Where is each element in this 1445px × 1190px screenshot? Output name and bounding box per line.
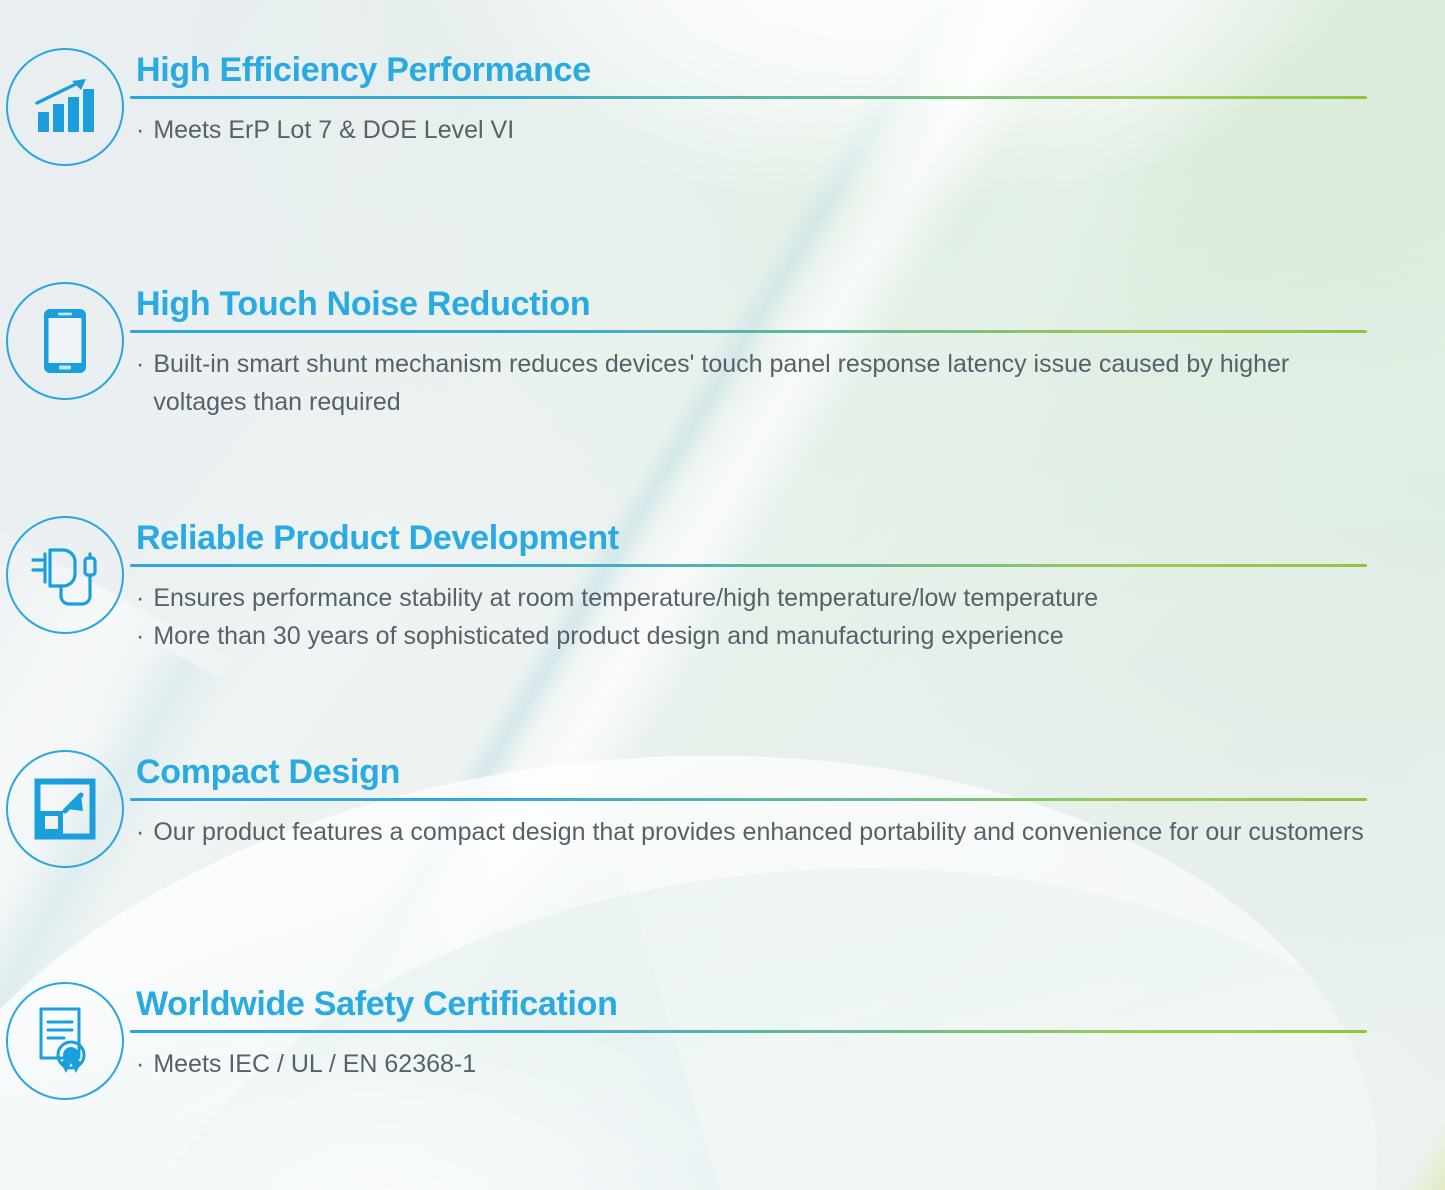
feature-divider xyxy=(130,96,1367,99)
feature-item-reliable-product-development: Reliable Product Development · Ensures p… xyxy=(0,514,1445,655)
icon-circle-frame xyxy=(6,282,124,400)
feature-item-high-efficiency-performance: High Efficiency Performance · Meets ErP … xyxy=(0,46,1445,166)
feature-title: Compact Design xyxy=(136,752,1367,792)
feature-icon-wrapper xyxy=(0,46,130,166)
icon-circle-frame xyxy=(6,48,124,166)
power-adapter-icon xyxy=(28,540,102,610)
feature-title: Reliable Product Development xyxy=(136,518,1367,558)
bullet-text: Meets IEC / UL / EN 62368-1 xyxy=(153,1045,1367,1083)
feature-divider xyxy=(130,798,1367,801)
feature-icon-wrapper xyxy=(0,280,130,400)
bullet-text: Ensures performance stability at room te… xyxy=(153,579,1367,617)
bullet-item: · Meets IEC / UL / EN 62368-1 xyxy=(136,1045,1367,1083)
bottom-right-yellow-band xyxy=(1349,631,1445,1190)
feature-bullets: · Ensures performance stability at room … xyxy=(130,579,1367,655)
feature-bullets: · Meets IEC / UL / EN 62368-1 xyxy=(130,1045,1367,1083)
bullet-text: More than 30 years of sophisticated prod… xyxy=(153,617,1367,655)
bullet-marker: · xyxy=(136,111,144,149)
feature-title: High Touch Noise Reduction xyxy=(136,284,1367,324)
feature-item-worldwide-safety-certification: Worldwide Safety Certification · Meets I… xyxy=(0,980,1445,1100)
feature-bullets: · Meets ErP Lot 7 & DOE Level VI xyxy=(130,111,1367,149)
bullet-item: · Our product features a compact design … xyxy=(136,813,1367,851)
bullet-item: · Ensures performance stability at room … xyxy=(136,579,1367,617)
bullet-marker: · xyxy=(136,1045,144,1083)
bullet-marker: · xyxy=(136,345,144,421)
feature-icon-wrapper xyxy=(0,980,130,1100)
feature-item-high-touch-noise-reduction: High Touch Noise Reduction · Built-in sm… xyxy=(0,280,1445,421)
feature-icon-wrapper xyxy=(0,748,130,868)
smartphone-icon xyxy=(43,308,87,374)
feature-icon-wrapper xyxy=(0,514,130,634)
bullet-item: · Meets ErP Lot 7 & DOE Level VI xyxy=(136,111,1367,149)
bullet-item: · More than 30 years of sophisticated pr… xyxy=(136,617,1367,655)
bullet-text: Our product features a compact design th… xyxy=(153,813,1367,851)
feature-text-column: High Efficiency Performance · Meets ErP … xyxy=(130,46,1445,149)
resize-shrink-icon xyxy=(34,778,96,840)
feature-text-column: Compact Design · Our product features a … xyxy=(130,748,1445,851)
bullet-marker: · xyxy=(136,813,144,851)
icon-circle-frame xyxy=(6,750,124,868)
bullet-text: Built-in smart shunt mechanism reduces d… xyxy=(153,345,1367,421)
feature-title: Worldwide Safety Certification xyxy=(136,984,1367,1024)
diagonal-streak-left-blue xyxy=(0,640,229,1190)
feature-text-column: Reliable Product Development · Ensures p… xyxy=(130,514,1445,655)
feature-item-compact-design: Compact Design · Our product features a … xyxy=(0,748,1445,868)
bar-chart-growth-icon xyxy=(34,78,96,136)
certificate-award-icon xyxy=(35,1006,95,1076)
bullet-marker: · xyxy=(136,617,144,655)
icon-circle-frame xyxy=(6,516,124,634)
bullet-marker: · xyxy=(136,579,144,617)
feature-divider xyxy=(130,1030,1367,1033)
bullet-text: Meets ErP Lot 7 & DOE Level VI xyxy=(153,111,1367,149)
feature-bullets: · Built-in smart shunt mechanism reduces… xyxy=(130,345,1367,421)
feature-title: High Efficiency Performance xyxy=(136,50,1367,90)
feature-text-column: Worldwide Safety Certification · Meets I… xyxy=(130,980,1445,1083)
feature-bullets: · Our product features a compact design … xyxy=(130,813,1367,851)
feature-highlights-page: High Efficiency Performance · Meets ErP … xyxy=(0,0,1445,1190)
feature-text-column: High Touch Noise Reduction · Built-in sm… xyxy=(130,280,1445,421)
feature-divider xyxy=(130,564,1367,567)
feature-divider xyxy=(130,330,1367,333)
bullet-item: · Built-in smart shunt mechanism reduces… xyxy=(136,345,1367,421)
icon-circle-frame xyxy=(6,982,124,1100)
